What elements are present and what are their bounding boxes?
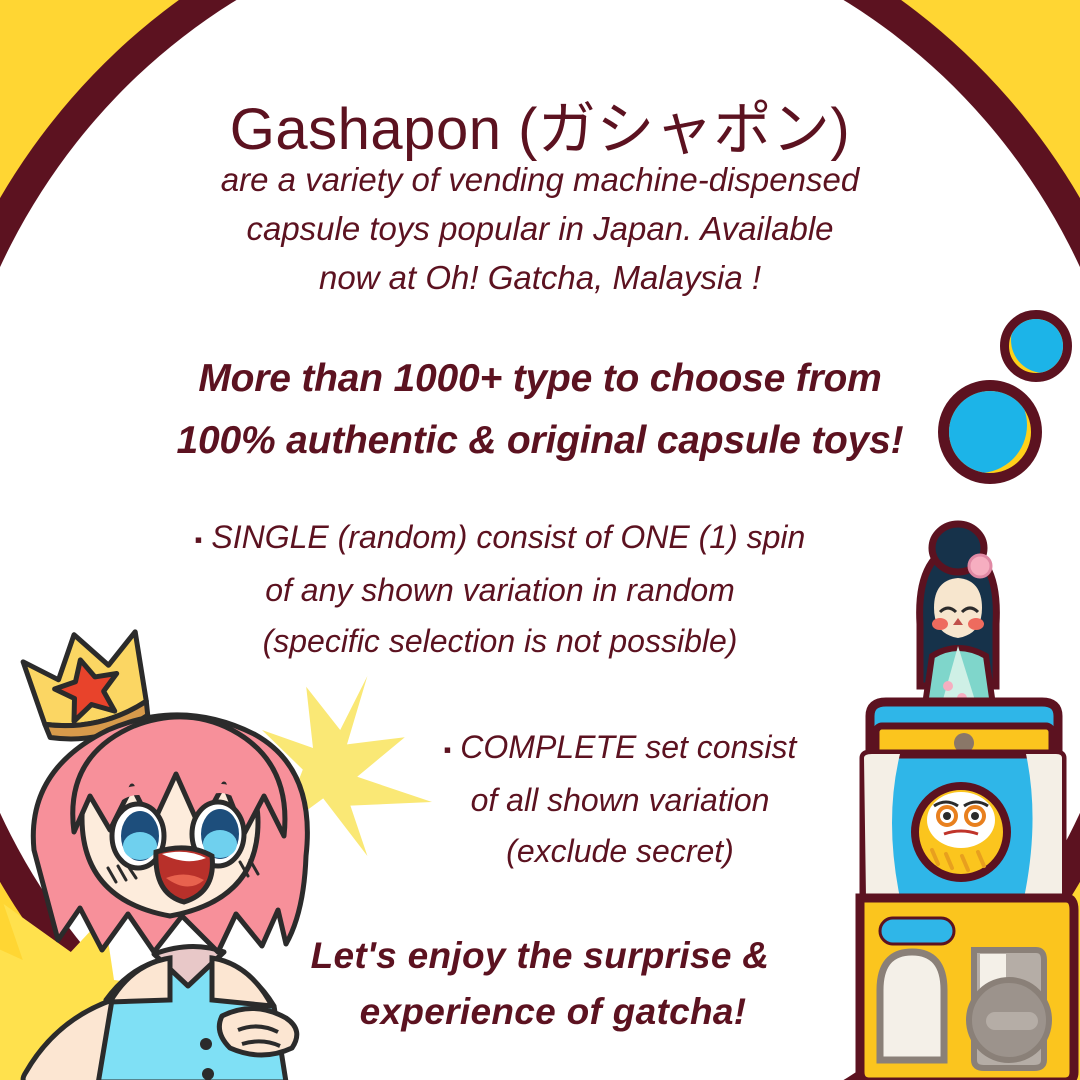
intro-line: now at Oh! Gatcha, Malaysia !	[0, 253, 1080, 302]
complete-option-line-1: ▪ COMPLETE set consist	[0, 722, 1080, 775]
tagline-line: Let's enjoy the surprise &	[0, 928, 1080, 984]
intro-paragraph: are a variety of vending machine-dispens…	[0, 155, 1080, 302]
bullet-icon: ▪	[444, 737, 452, 762]
poster-canvas: Gashapon (ガシャポン) are a variety of vendin…	[0, 0, 1080, 1080]
single-option-block: ▪ SINGLE (random) consist of ONE (1) spi…	[0, 512, 1000, 667]
complete-option-text: COMPLETE set consist	[460, 729, 796, 765]
poster-text-content: Gashapon (ガシャポン) are a variety of vendin…	[0, 0, 1080, 1080]
claims-block: More than 1000+ type to choose from 100%…	[0, 348, 1080, 472]
intro-line: capsule toys popular in Japan. Available	[0, 204, 1080, 253]
single-option-line-2: of any shown variation in random	[0, 565, 1000, 616]
claim-line: 100% authentic & original capsule toys!	[0, 410, 1080, 472]
complete-option-line-3: (exclude secret)	[0, 826, 1080, 877]
page-title: Gashapon (ガシャポン)	[0, 82, 1080, 166]
complete-option-line-2: of all shown variation	[0, 775, 1080, 826]
bullet-icon: ▪	[195, 527, 203, 552]
tagline-line: experience of gatcha!	[0, 984, 1080, 1040]
complete-option-block: ▪ COMPLETE set consist of all shown vari…	[0, 722, 1080, 877]
claim-line: More than 1000+ type to choose from	[0, 348, 1080, 410]
single-option-line-1: ▪ SINGLE (random) consist of ONE (1) spi…	[0, 512, 1000, 565]
intro-line: are a variety of vending machine-dispens…	[0, 155, 1080, 204]
single-option-line-3: (specific selection is not possible)	[0, 616, 1000, 667]
closing-tagline: Let's enjoy the surprise & experience of…	[0, 928, 1080, 1040]
single-option-text: SINGLE (random) consist of ONE (1) spin	[211, 519, 805, 555]
